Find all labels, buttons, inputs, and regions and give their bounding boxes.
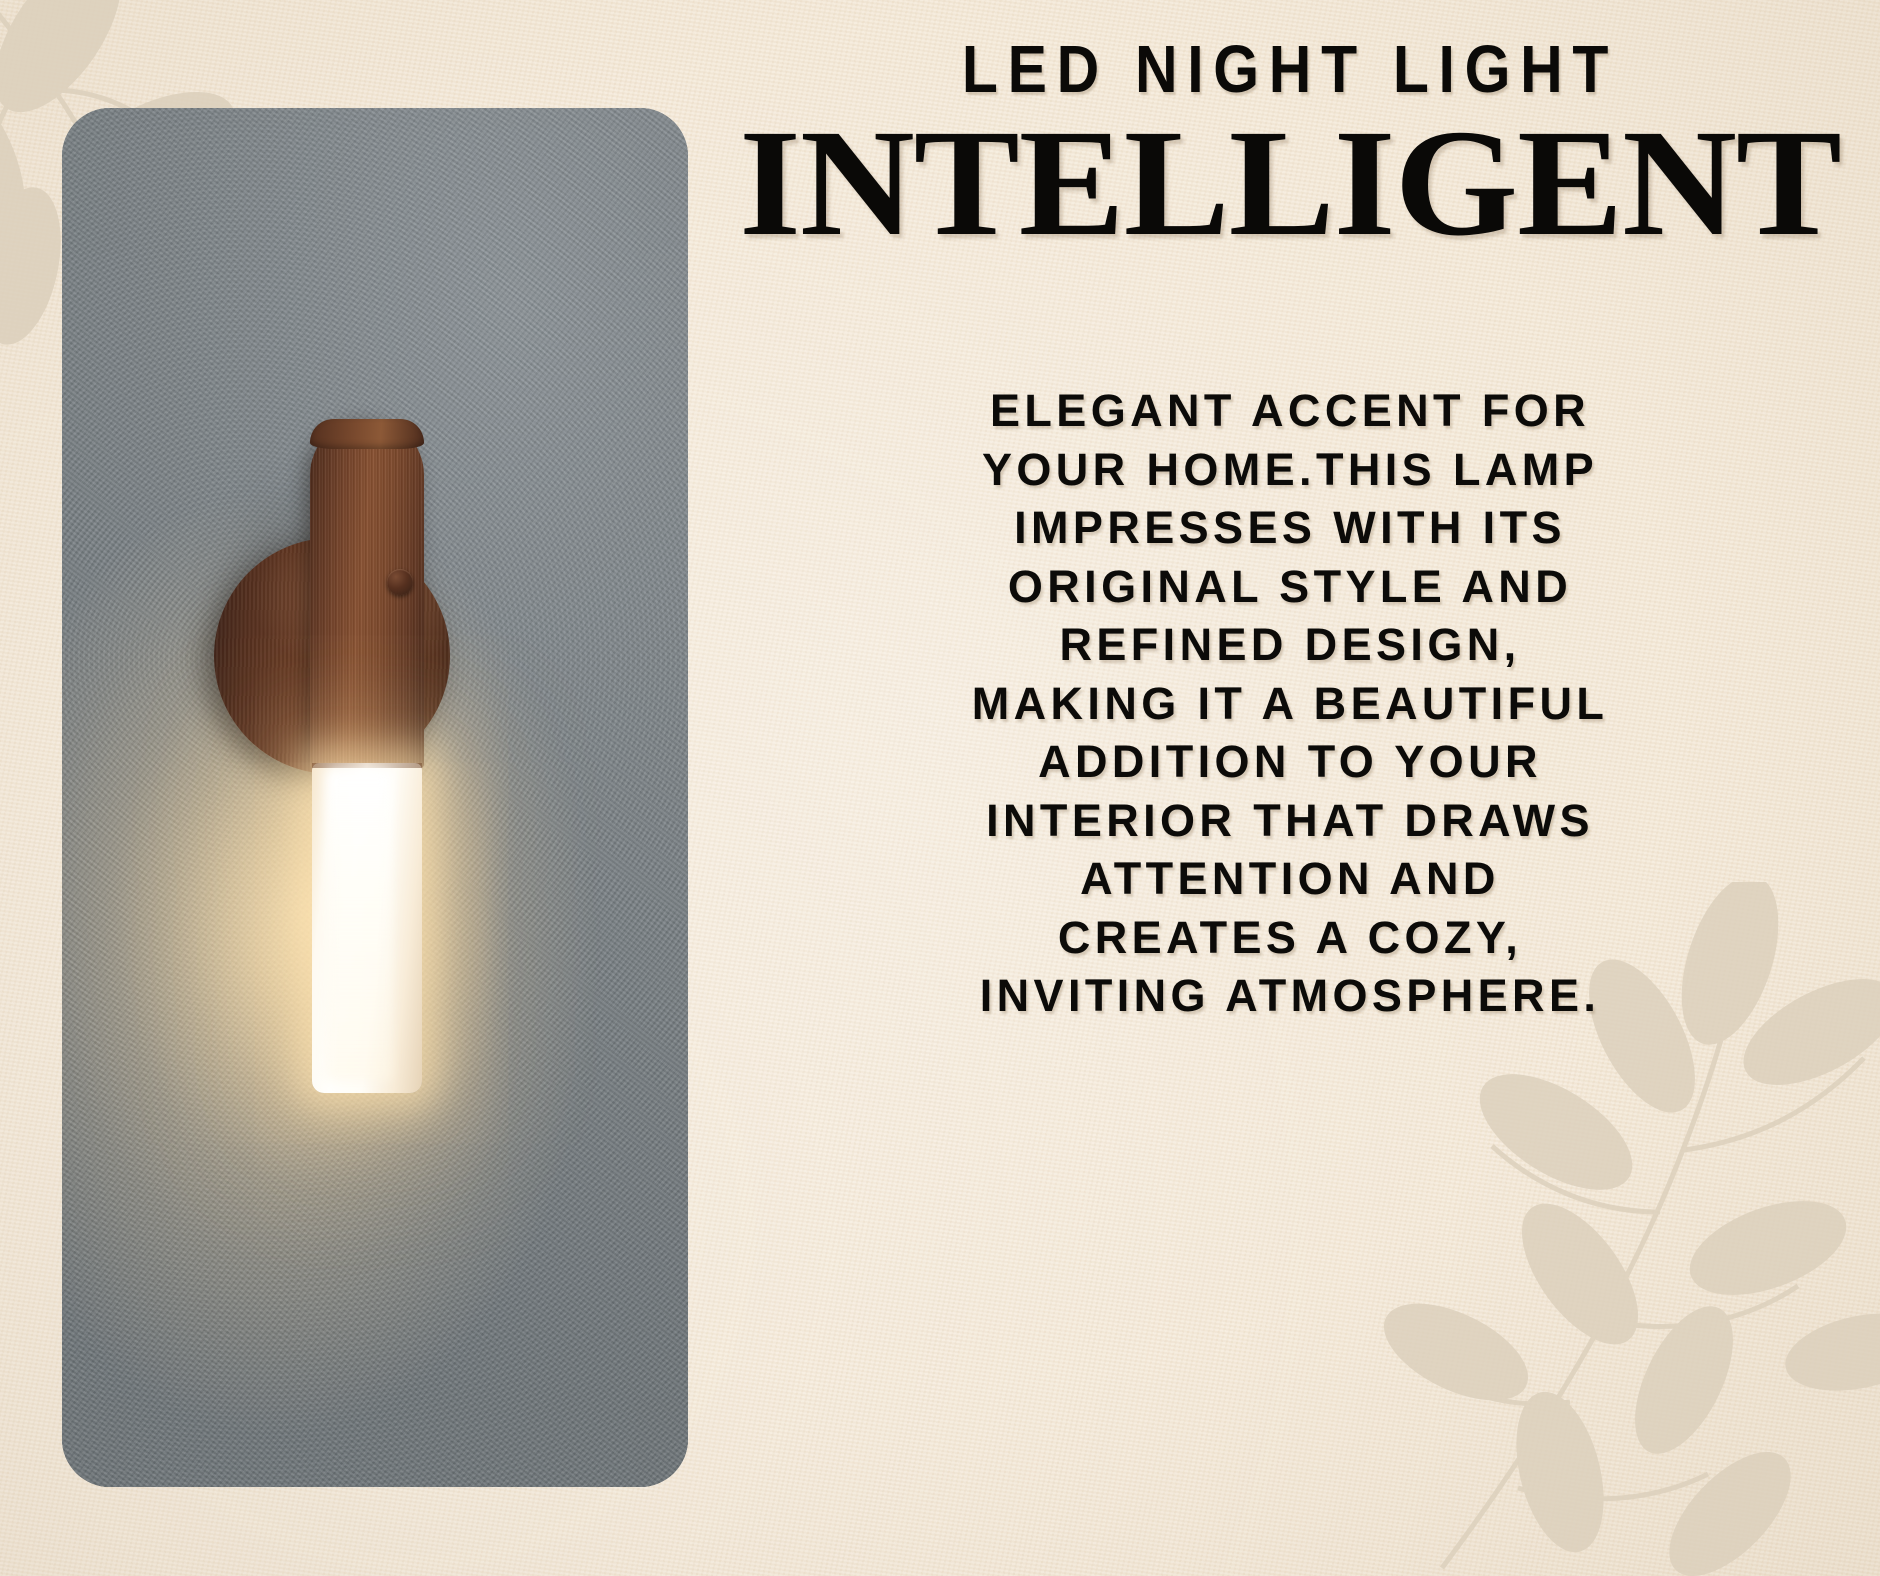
lamp-body-wood-grain <box>310 419 424 769</box>
poster-canvas: LED NIGHT LIGHT INTELLIGENT ELEGANT ACCE… <box>0 0 1880 1576</box>
page-title: INTELLIGENT <box>665 107 1880 260</box>
lamp-power-button[interactable] <box>387 569 413 595</box>
body-line: REFINED DESIGN, <box>728 616 1852 675</box>
body-line: ORIGINAL STYLE AND <box>728 558 1852 617</box>
body-line: CREATES A COZY, <box>728 909 1852 968</box>
body-line: ADDITION TO YOUR <box>728 733 1852 792</box>
lamp-frosted-diffuser <box>312 763 422 1093</box>
body-line: ELEGANT ACCENT FOR <box>728 382 1852 441</box>
body-line: INTERIOR THAT DRAWS <box>728 792 1852 851</box>
eyebrow-headline: LED NIGHT LIGHT <box>771 36 1809 104</box>
body-line: YOUR HOME.THIS LAMP <box>728 441 1852 500</box>
text-column: LED NIGHT LIGHT INTELLIGENT ELEGANT ACCE… <box>700 0 1880 1576</box>
lamp-body-top-cap <box>310 419 424 449</box>
body-line: IMPRESSES WITH ITS <box>728 499 1852 558</box>
product-image-panel <box>62 108 688 1487</box>
body-line: ATTENTION AND <box>728 850 1852 909</box>
body-line: INVITING ATMOSPHERE. <box>728 967 1852 1026</box>
body-description: ELEGANT ACCENT FORYOUR HOME.THIS LAMPIMP… <box>728 382 1852 1026</box>
diffuser-seam <box>312 763 422 768</box>
lamp-wood-body <box>310 419 424 769</box>
body-line: MAKING IT A BEAUTIFUL <box>728 675 1852 734</box>
diffuser-light-core <box>326 771 392 1081</box>
